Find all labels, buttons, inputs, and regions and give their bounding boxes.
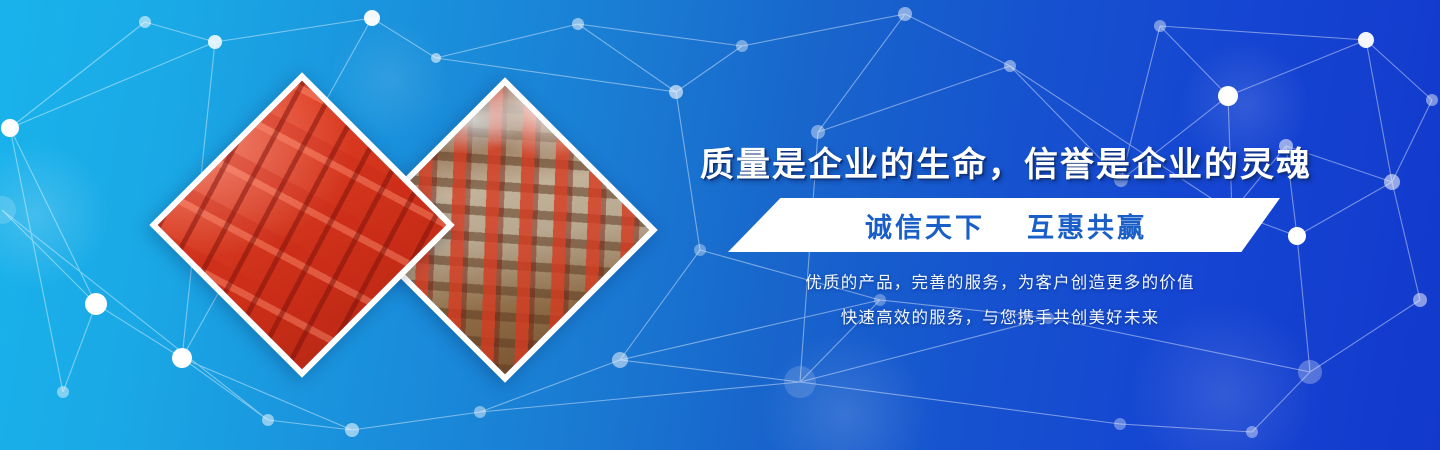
photo-surface [149, 72, 454, 377]
banner-headline: 质量是企业的生命，信誉是企业的灵魂 [700, 137, 1300, 186]
slogan-ribbon: 诚信天下 互惠共赢 [728, 198, 1280, 252]
glow-blob [0, 140, 110, 290]
banner-text-column: 质量是企业的生命，信誉是企业的灵魂 诚信天下 互惠共赢 优质的产品，完善的服务，… [700, 0, 1300, 450]
banner-subline-2: 快速高效的服务，与您携手共创美好未来 [700, 304, 1300, 328]
slogan-ribbon-text: 诚信天下 互惠共赢 [728, 198, 1280, 252]
promotional-banner: 质量是企业的生命，信誉是企业的灵魂 诚信天下 互惠共赢 优质的产品，完善的服务，… [0, 0, 1440, 450]
banner-subline-1: 优质的产品，完善的服务，为客户创造更多的价值 [700, 269, 1300, 293]
red-universal-joint-couplings-photo [149, 72, 454, 377]
